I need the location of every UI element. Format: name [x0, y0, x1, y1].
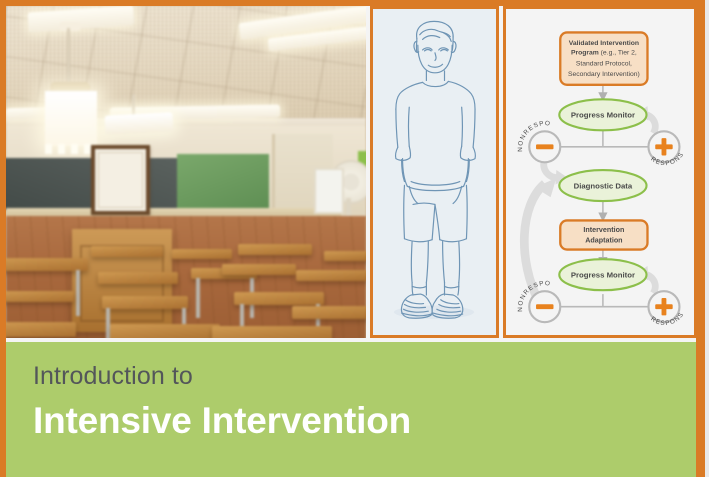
intervention-cycle-diagram: Validated Intervention Program (e.g., Ti…	[506, 9, 694, 335]
pendant-mount	[59, 22, 81, 31]
title-band: Introduction to Intensive Intervention	[6, 342, 698, 477]
pendant-rod	[67, 28, 70, 86]
desk	[6, 322, 76, 337]
desk	[324, 251, 366, 261]
student-illustration-panel	[370, 6, 499, 338]
desk-leg	[196, 278, 200, 318]
framed-picture	[91, 145, 150, 215]
minus-icon	[536, 144, 553, 149]
plus-icon-v	[662, 138, 667, 155]
node-intervention-adaptation-line2: Adaptation	[585, 237, 622, 245]
minus-icon	[536, 304, 553, 309]
green-chalkboard	[177, 154, 269, 215]
desk	[238, 244, 312, 255]
desk	[172, 249, 232, 259]
node-vip-line1: Validated Intervention	[569, 40, 639, 47]
frame-left-strip	[0, 0, 6, 342]
classroom-photo-panel	[6, 6, 366, 338]
desk	[6, 291, 74, 302]
pendant-lamp	[45, 91, 97, 146]
desk	[222, 264, 296, 275]
node-intervention-adaptation	[560, 220, 647, 249]
page-title: Intensive Intervention	[33, 400, 411, 442]
desk	[292, 306, 366, 319]
intervention-cycle-diagram-panel: Validated Intervention Program (e.g., Ti…	[503, 6, 697, 338]
node-diagnostic-data-label: Diagnostic Data	[574, 181, 633, 190]
node-vip-line4: Secondary Intervention)	[568, 71, 640, 78]
frame-right-edge	[705, 0, 709, 477]
desk-leg	[76, 270, 80, 316]
frame-top-strip	[0, 0, 709, 6]
classroom-photo-image	[6, 6, 366, 338]
node-vip-line3: Standard Protocol,	[576, 60, 632, 67]
slide-canvas: Validated Intervention Program (e.g., Ti…	[0, 0, 709, 477]
desk	[212, 326, 332, 338]
node-vip-program-word: Program	[571, 50, 599, 57]
door-window	[314, 168, 344, 214]
desk	[91, 246, 163, 257]
desk	[98, 272, 178, 284]
desk	[234, 292, 324, 305]
band-left-strip	[0, 340, 6, 477]
pendant-lamp	[105, 112, 174, 135]
node-intervention-adaptation-line1: Intervention	[583, 226, 624, 234]
desk	[296, 270, 366, 281]
title-eyebrow: Introduction to	[33, 362, 193, 391]
node-progress-monitor-1-label: Progress Monitor	[571, 111, 635, 120]
top-panel-row: Validated Intervention Program (e.g., Ti…	[0, 0, 709, 342]
frame-right-strip	[696, 0, 705, 477]
node-vip-eg: (e.g., Tier 2,	[599, 50, 637, 57]
node-vip-line2: Program (e.g., Tier 2,	[571, 50, 637, 57]
boy-line-drawing	[373, 9, 496, 335]
desk	[110, 324, 220, 338]
plus-icon-v	[662, 298, 667, 315]
node-progress-monitor-2-label: Progress Monitor	[571, 271, 635, 280]
desk	[102, 296, 188, 309]
